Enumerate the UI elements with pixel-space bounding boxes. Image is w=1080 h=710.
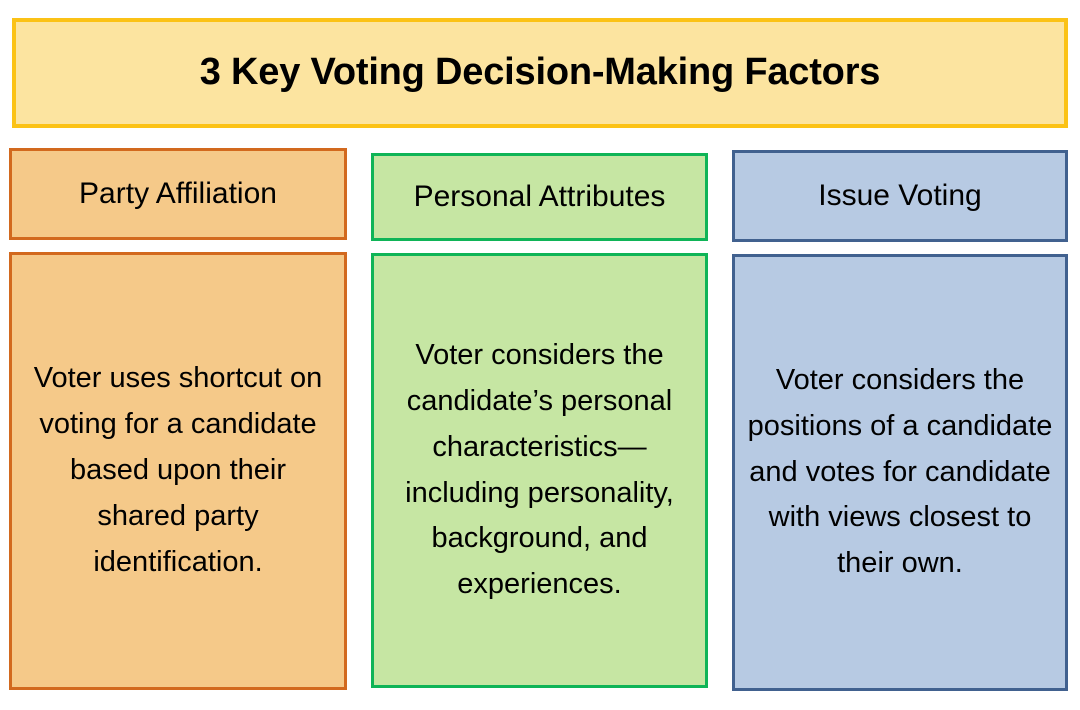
- column-body-text: Voter considers the candidate’s personal…: [386, 333, 693, 608]
- column-body-text: Voter uses shortcut on voting for a cand…: [24, 356, 332, 585]
- column-header-label: Issue Voting: [818, 179, 981, 214]
- column-body-issue-voting: Voter considers the positions of a candi…: [732, 254, 1068, 691]
- page-title: 3 Key Voting Decision-Making Factors: [200, 52, 880, 94]
- column-header-label: Personal Attributes: [414, 180, 666, 215]
- slide-canvas: 3 Key Voting Decision-Making Factors Par…: [0, 0, 1080, 710]
- column-issue-voting: Issue Voting Voter considers the positio…: [732, 150, 1068, 691]
- title-banner: 3 Key Voting Decision-Making Factors: [12, 18, 1068, 128]
- column-body-personal-attributes: Voter considers the candidate’s personal…: [371, 253, 708, 688]
- column-header-personal-attributes: Personal Attributes: [371, 153, 708, 241]
- column-header-party-affiliation: Party Affiliation: [9, 148, 347, 240]
- column-party-affiliation: Party Affiliation Voter uses shortcut on…: [9, 148, 347, 690]
- column-body-party-affiliation: Voter uses shortcut on voting for a cand…: [9, 252, 347, 690]
- column-body-text: Voter considers the positions of a candi…: [747, 358, 1053, 587]
- column-personal-attributes: Personal Attributes Voter considers the …: [371, 153, 708, 688]
- column-header-label: Party Affiliation: [79, 177, 277, 212]
- column-header-issue-voting: Issue Voting: [732, 150, 1068, 242]
